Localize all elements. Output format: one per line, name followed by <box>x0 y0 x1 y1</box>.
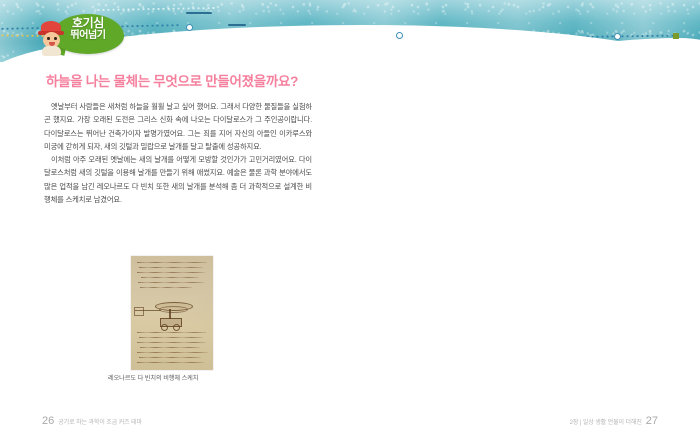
manuscript-line <box>139 357 201 358</box>
paragraph: 옛날부터 사람들은 새처럼 하늘을 훨훨 날고 싶어 했어요. 그래서 다양한 … <box>44 100 312 153</box>
machine-wheel <box>161 324 168 331</box>
manuscript-line <box>137 262 207 263</box>
manuscript-line <box>141 277 199 278</box>
machine-arm-detail <box>134 307 144 316</box>
manuscript-line <box>139 337 203 338</box>
footer-text-left: 공기로 하는 과학이 조금 커즈 테마 <box>58 417 142 426</box>
page-number-left: 26 <box>42 415 54 427</box>
left-page-body-text: 옛날부터 사람들은 새처럼 하늘을 훨훨 날고 싶어 했어요. 그래서 다양한 … <box>44 100 312 206</box>
manuscript-line <box>137 352 208 353</box>
manuscript-line <box>138 282 204 283</box>
page-number-right: 27 <box>646 415 658 427</box>
page-title: 하늘을 나는 물체는 무엇으로 만들어졌을까요? <box>46 70 336 90</box>
paragraph: 이처럼 아주 오래된 옛날에는 새의 날개를 어떻게 모방할 것인가가 고민거리… <box>44 153 312 206</box>
manuscript-line <box>137 342 206 343</box>
book-spread: 호기심 뛰어넘기 하늘을 나는 물체는 무엇으로 만들어졌을까요? 옛날부터 사… <box>0 0 700 441</box>
footer-text-right: 2장 | 일상 생활 언물이 더해진 <box>570 417 642 426</box>
left-page: 하늘을 나는 물체는 무엇으로 만들어졌을까요? 옛날부터 사람들은 새처럼 하… <box>0 0 350 441</box>
da-vinci-sketch-image <box>131 256 213 370</box>
flying-machine-drawing <box>147 298 197 328</box>
da-vinci-sketch-caption: 레오나르도 다 빈치의 비행체 스케치 <box>108 373 198 382</box>
manuscript-line <box>139 267 203 268</box>
left-page-footer: 26 공기로 하는 과학이 조금 커즈 테마 <box>42 415 142 427</box>
manuscript-line <box>140 347 200 348</box>
manuscript-line <box>137 362 204 363</box>
manuscript-line <box>137 332 207 333</box>
right-page: 비행기 그러다 수소가 발견되면서 공기보다 훨씬 가벼운 수소를 이용해 사람… <box>350 0 700 441</box>
manuscript-line <box>140 287 192 288</box>
machine-rotor-disc-inner <box>159 306 188 313</box>
machine-wheel <box>173 324 180 331</box>
right-page-footer: 2장 | 일상 생활 언물이 더해진 27 <box>570 415 658 427</box>
manuscript-line <box>137 272 205 273</box>
